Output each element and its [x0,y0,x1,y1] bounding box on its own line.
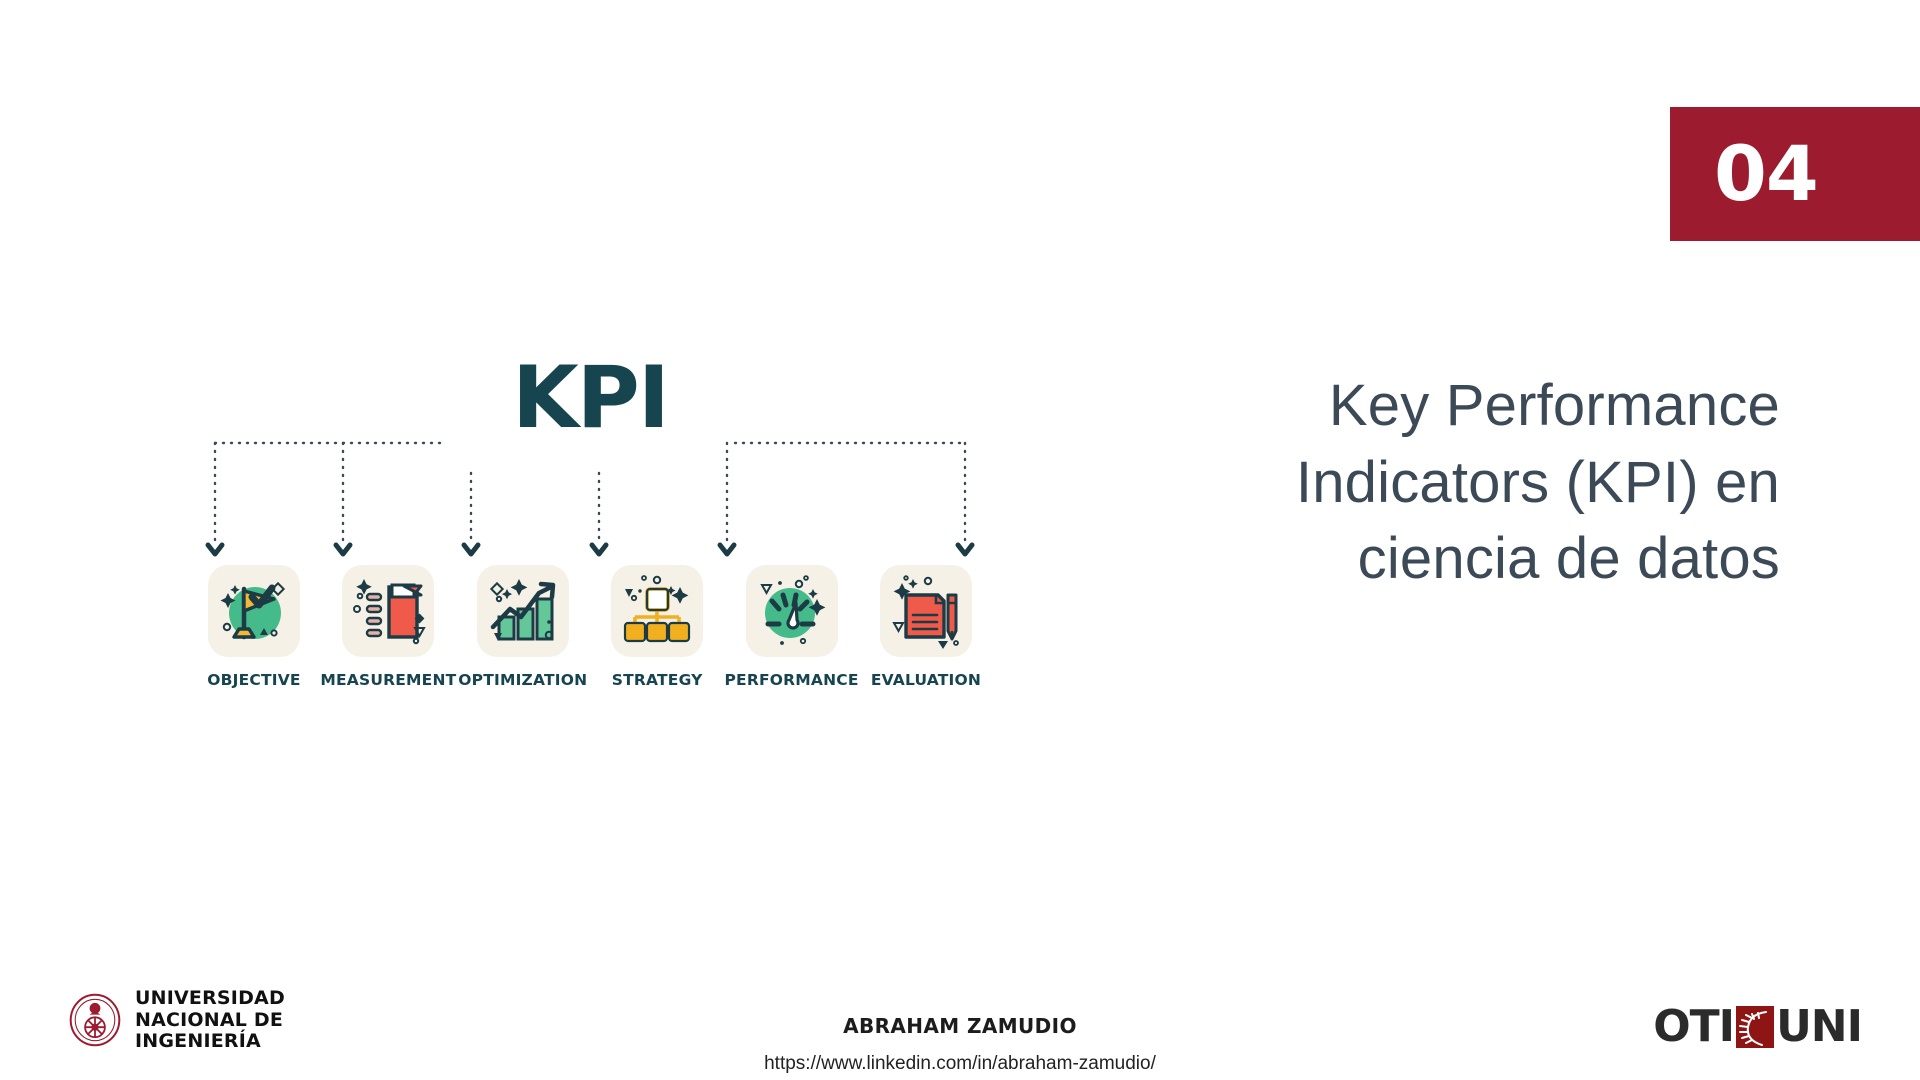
clipboard-list-icon [342,565,434,657]
university-name-line-1: UNIVERSIDAD [135,988,285,1010]
kpi-item-measurement[interactable]: MEASUREMENT [329,565,447,689]
kpi-infographic: KPI [195,355,985,725]
section-number: 04 [1714,136,1818,212]
optimization-icon-tile [477,565,569,657]
section-number-badge: 04 [1670,107,1920,241]
author-linkedin-url[interactable]: https://www.linkedin.com/in/abraham-zamu… [0,1053,1920,1075]
kpi-label-optimization: OPTIMIZATION [458,671,587,689]
kpi-item-optimization[interactable]: OPTIMIZATION [464,565,582,689]
kpi-icon-row: OBJECTIVE [195,565,985,689]
page-title-line-1: Key Performance [1120,368,1780,445]
kpi-item-strategy[interactable]: STRATEGY [598,565,716,689]
kpi-label-strategy: STRATEGY [612,671,703,689]
evaluation-icon-tile [880,565,972,657]
kpi-label-evaluation: EVALUATION [871,671,981,689]
slide-root: 04 Key Performance Indicators (KPI) en c… [0,0,1920,1080]
kpi-label-measurement: MEASUREMENT [320,671,456,689]
org-chart-icon [611,565,703,657]
performance-icon-tile [746,565,838,657]
gauge-icon [746,565,838,657]
flag-check-icon [208,565,300,657]
kpi-label-performance: PERFORMANCE [725,671,859,689]
measurement-icon-tile [342,565,434,657]
page-title: Key Performance Indicators (KPI) en cien… [1120,368,1780,598]
page-title-line-2: Indicators (KPI) en [1120,445,1780,522]
oti-logo-mark-icon [1736,1006,1774,1048]
objective-icon-tile [208,565,300,657]
oti-uni-logo: OTI UNI [1653,1002,1862,1052]
kpi-item-objective[interactable]: OBJECTIVE [195,565,313,689]
footer-center: ABRAHAM ZAMUDIO https://www.linkedin.com… [0,1014,1920,1075]
strategy-icon-tile [611,565,703,657]
kpi-item-evaluation[interactable]: EVALUATION [867,565,985,689]
kpi-label-objective: OBJECTIVE [207,671,300,689]
document-pencil-icon [880,565,972,657]
oti-logo-suffix: UNI [1776,1005,1862,1049]
author-name: ABRAHAM ZAMUDIO [0,1014,1920,1038]
page-title-line-3: ciencia de datos [1120,521,1780,598]
bar-chart-up-icon [477,565,569,657]
oti-logo-prefix: OTI [1653,1005,1734,1049]
kpi-item-performance[interactable]: PERFORMANCE [733,565,851,689]
